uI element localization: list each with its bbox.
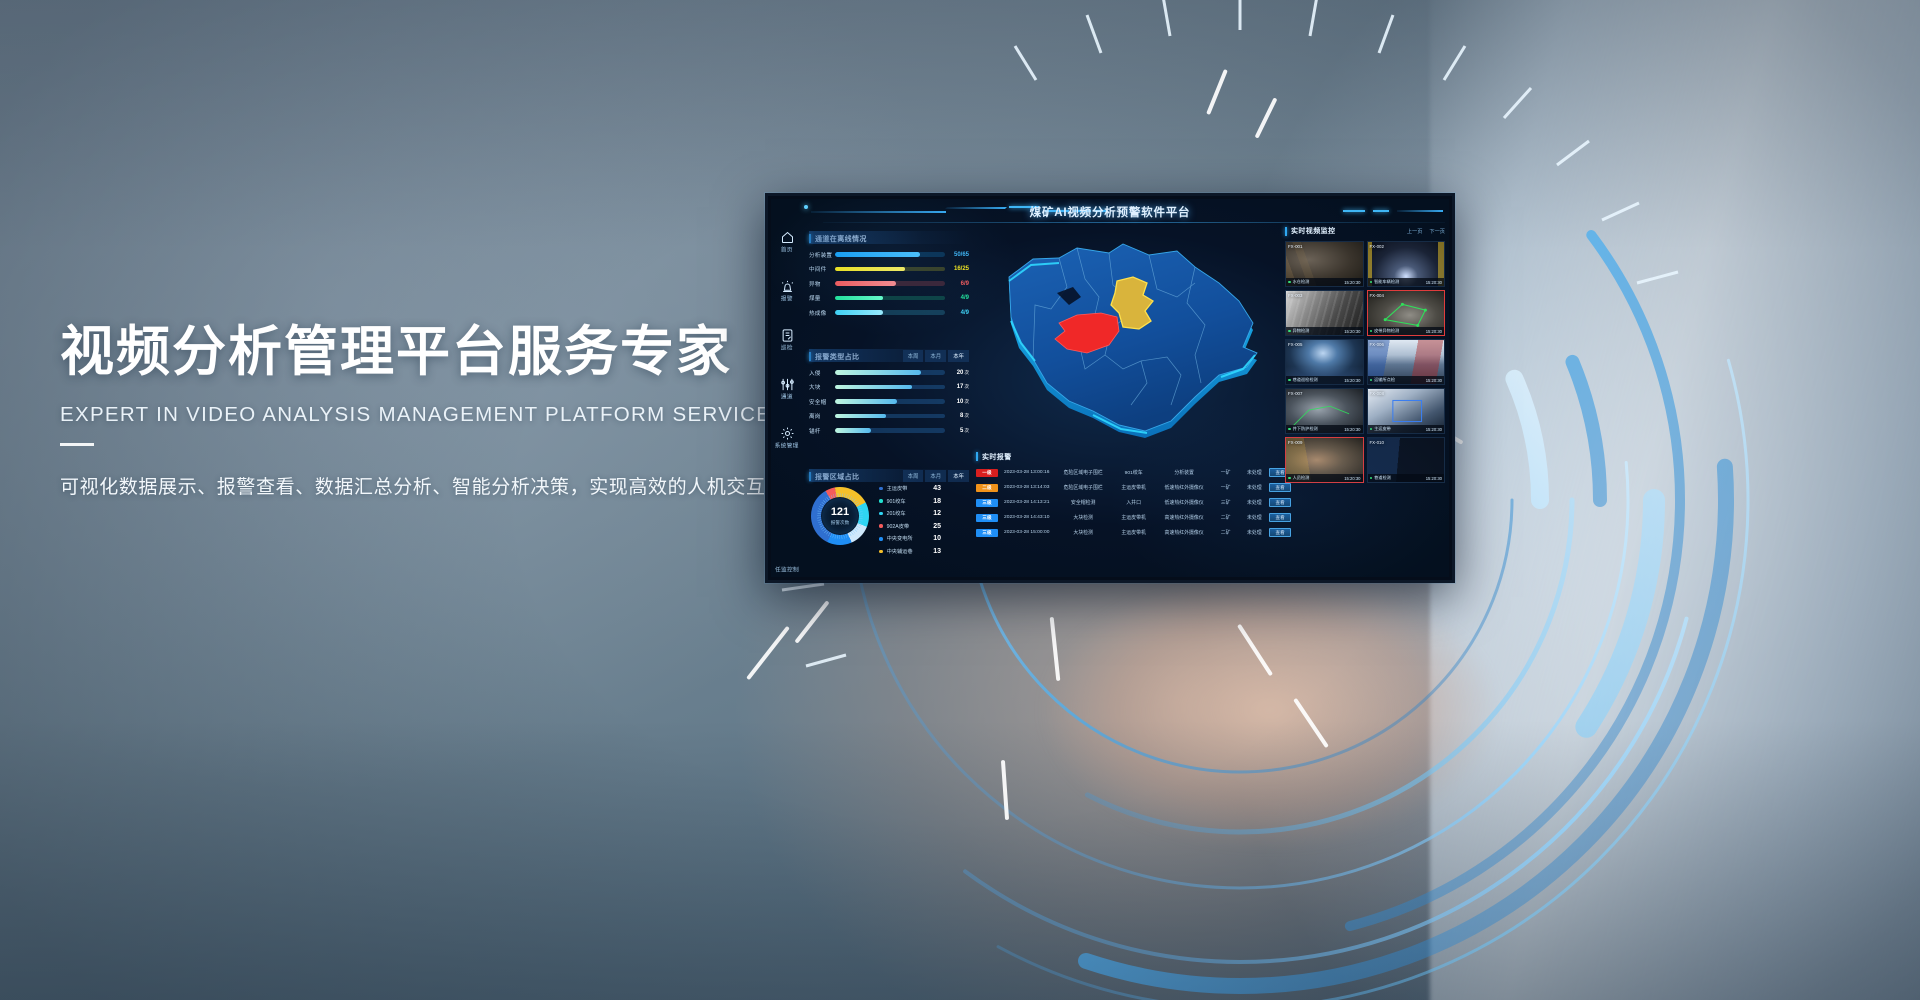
alarm-device: 低速热红外摄像仪 bbox=[1156, 499, 1211, 506]
video-footer: 主运皮带 15:20:30 bbox=[1368, 425, 1445, 433]
tab-month[interactable]: 本月 bbox=[925, 350, 946, 362]
region-map[interactable] bbox=[981, 235, 1281, 455]
sidebar-label: 通道 bbox=[781, 393, 793, 401]
alarm-type-row: 大块 17次 bbox=[809, 383, 969, 391]
alarm-status: 未处理 bbox=[1240, 469, 1270, 476]
type-value: 17次 bbox=[945, 384, 969, 390]
legend-label: 201绞车 bbox=[887, 510, 934, 517]
channel-label: 中间件 bbox=[809, 265, 835, 273]
table-row: 一级 2023-03-28 13:00:16 危险区域电子围栏 901绞车 分析… bbox=[976, 465, 1291, 480]
video-cell[interactable]: FX-003 异物检测 15:20:30 bbox=[1285, 290, 1364, 336]
donut-value: 121 bbox=[831, 507, 849, 518]
alarm-mine: 二矿 bbox=[1212, 514, 1240, 521]
sidebar-label: 首页 bbox=[781, 246, 793, 254]
legend-label: 主运皮带 bbox=[887, 485, 934, 492]
camera-tag: 巷道巡检检测 bbox=[1293, 377, 1318, 383]
channel-row: 热成像 4/9 bbox=[809, 309, 969, 317]
camera-tag: 巷道检测 bbox=[1374, 475, 1391, 481]
period-tabs: 本周 本月 本年 bbox=[903, 350, 969, 362]
camera-time: 15:20:30 bbox=[1426, 427, 1442, 432]
status-dot-icon bbox=[1370, 330, 1373, 333]
alarm-device: 高速热红外摄像仪 bbox=[1156, 514, 1211, 521]
camera-time: 15:20:30 bbox=[1344, 378, 1360, 383]
legend-label: 中央变电所 bbox=[887, 535, 934, 542]
alarm-type-row: 安全帽 10次 bbox=[809, 398, 969, 406]
alarm-time: 2023-03-28 14:43:10 bbox=[998, 515, 1055, 520]
alarm-status: 未处理 bbox=[1240, 529, 1270, 536]
camera-name: FX-002 bbox=[1370, 244, 1384, 249]
channel-row: 煤量 4/9 bbox=[809, 294, 969, 302]
video-cell[interactable]: FX-004 皮带异物检测 15:20:30 bbox=[1367, 290, 1446, 336]
legend-dot bbox=[879, 550, 883, 554]
sidebar-label: 报警 bbox=[781, 295, 793, 303]
channel-row: 中间件 16/25 bbox=[809, 265, 969, 273]
camera-name: FX-006 bbox=[1370, 342, 1384, 347]
tab-week[interactable]: 本周 bbox=[903, 350, 924, 362]
alarm-type-row: 入侵 20次 bbox=[809, 369, 969, 377]
status-dot-icon bbox=[1370, 281, 1373, 284]
page-title: 视频分析管理平台服务专家 bbox=[60, 320, 820, 385]
progress-track bbox=[835, 267, 945, 272]
channel-status-panel: 通道在离线情况 分析装置 50/65 中间件 16/25 bbox=[809, 233, 969, 317]
legend-label: 901绞车 bbox=[887, 498, 934, 505]
app-title: 煤矿AI视频分析预警软件平台 bbox=[1030, 204, 1191, 220]
legend-dot bbox=[879, 512, 883, 516]
camera-name: FX-001 bbox=[1288, 244, 1302, 249]
camera-tag: 水仓检测 bbox=[1293, 279, 1310, 285]
video-footer: 皮带异物检测 15:20:30 bbox=[1368, 327, 1445, 335]
camera-tag: 智能车辆检测 bbox=[1374, 279, 1399, 285]
channel-row: 异物 6/9 bbox=[809, 280, 969, 288]
map-base bbox=[1009, 244, 1257, 431]
hero-description: 可视化数据展示、报警查看、数据汇总分析、智能分析决策，实现高效的人机交互 bbox=[60, 472, 820, 499]
alarm-type: 大块检测 bbox=[1055, 529, 1110, 536]
type-label: 安全帽 bbox=[809, 398, 835, 406]
legend-label: 902A皮带 bbox=[887, 523, 934, 530]
channel-label: 分析装置 bbox=[809, 251, 835, 259]
sidebar-item-alarm[interactable]: 报警 bbox=[771, 272, 803, 308]
channel-icon bbox=[780, 377, 795, 392]
legend-value: 10 bbox=[933, 535, 941, 542]
camera-time: 15:20:30 bbox=[1426, 280, 1442, 285]
panel-title: 实时报警 bbox=[982, 452, 1012, 462]
camera-time: 15:20:30 bbox=[1344, 427, 1360, 432]
sidebar-footer-label: 任监控制 bbox=[771, 566, 807, 574]
video-footer: 井下防护检测 15:20:30 bbox=[1286, 425, 1363, 433]
alarm-mine: 一矿 bbox=[1212, 469, 1240, 476]
camera-tag: 皮带异物检测 bbox=[1374, 328, 1399, 334]
alarm-status: 未处理 bbox=[1240, 514, 1270, 521]
tab-week[interactable]: 本周 bbox=[903, 470, 924, 482]
video-cell[interactable]: FX-002 智能车辆检测 15:20:30 bbox=[1367, 241, 1446, 287]
sidebar-item-channel[interactable]: 通道 bbox=[771, 370, 803, 406]
video-footer: 人员检测 15:20:30 bbox=[1286, 474, 1363, 482]
header-dot-icon bbox=[804, 205, 808, 209]
donut-legend: 主运皮带 43 901绞车 18 201绞车 12 902A皮带 25 bbox=[879, 485, 941, 561]
status-dot-icon bbox=[1288, 477, 1291, 480]
next-page-button[interactable]: 下一页 bbox=[1429, 228, 1445, 235]
panel-header: 实时报警 bbox=[976, 451, 1291, 462]
panel-accent-bar bbox=[976, 452, 978, 461]
video-footer: 异物检测 15:20:30 bbox=[1286, 327, 1363, 335]
camera-tag: 井下防护检测 bbox=[1293, 426, 1318, 432]
status-dot-icon bbox=[1288, 428, 1291, 431]
table-row: 三级 2023-03-28 14:13:21 安全帽检测 入井口 低速热红外摄像… bbox=[976, 495, 1291, 510]
video-pager: 上一页 下一页 bbox=[1407, 228, 1445, 235]
status-badge: 一级 bbox=[976, 469, 998, 477]
realtime-alarm-panel: 实时报警 一级 2023-03-28 13:00:16 危险区域电子围栏 901… bbox=[976, 451, 1291, 540]
type-label: 离岗 bbox=[809, 412, 835, 420]
video-monitor-panel: 实时视频监控 上一页 下一页 FX-001 水仓检测 15:20:30 bbox=[1285, 225, 1445, 573]
alarm-type-row: 锚杆 5次 bbox=[809, 427, 969, 435]
progress-track bbox=[835, 252, 945, 257]
hero-copy: 视频分析管理平台服务专家 EXPERT IN VIDEO ANALYSIS MA… bbox=[60, 320, 820, 499]
camera-name: FX-008 bbox=[1370, 391, 1384, 396]
alarm-mine: 二矿 bbox=[1212, 529, 1240, 536]
status-badge: 二级 bbox=[976, 484, 998, 492]
status-dot-icon bbox=[1288, 379, 1291, 382]
tab-year[interactable]: 本年 bbox=[948, 470, 969, 482]
camera-time: 15:20:30 bbox=[1426, 329, 1442, 334]
alarm-status: 未处理 bbox=[1240, 499, 1270, 506]
type-value: 5次 bbox=[945, 428, 969, 434]
legend-item: 901绞车 18 bbox=[879, 498, 941, 505]
camera-tag: 人员检测 bbox=[1293, 475, 1310, 481]
period-tabs: 本周 本月 本年 bbox=[903, 470, 969, 482]
alarm-time: 2023-03-28 13:14:03 bbox=[998, 485, 1055, 490]
divider bbox=[60, 443, 94, 446]
channel-value: 4/9 bbox=[945, 310, 969, 316]
alarm-type: 大块检测 bbox=[1055, 514, 1110, 521]
progress-track bbox=[835, 399, 945, 404]
progress-track bbox=[835, 428, 945, 433]
legend-item: 中央变电所 10 bbox=[879, 535, 941, 542]
video-cell[interactable]: FX-008 主运皮带 15:20:30 bbox=[1367, 388, 1446, 434]
alarm-location: 主运皮带机 bbox=[1111, 484, 1157, 491]
sidebar-label: 系统管理 bbox=[775, 442, 799, 450]
video-footer: 巷道巡检检测 15:20:30 bbox=[1286, 376, 1363, 384]
camera-time: 15:20:30 bbox=[1426, 378, 1442, 383]
legend-dot bbox=[879, 537, 883, 541]
video-cell[interactable]: FX-010 巷道检测 15:20:30 bbox=[1367, 437, 1446, 483]
sidebar-item-inspection[interactable]: 巡检 bbox=[771, 321, 803, 357]
video-cell[interactable]: FX-001 水仓检测 15:20:30 bbox=[1285, 241, 1364, 287]
sidebar-label: 巡检 bbox=[781, 344, 793, 352]
donut-caption: 报警次数 bbox=[831, 520, 849, 526]
video-footer: 水仓检测 15:20:30 bbox=[1286, 278, 1363, 286]
camera-name: FX-004 bbox=[1370, 293, 1384, 298]
video-cell[interactable]: FX-006 运输所点检 15:20:30 bbox=[1367, 339, 1446, 385]
camera-time: 15:20:30 bbox=[1344, 476, 1360, 481]
alarm-device: 高速热红外摄像仪 bbox=[1156, 529, 1211, 536]
channel-label: 煤量 bbox=[809, 294, 835, 302]
camera-name: FX-010 bbox=[1370, 440, 1384, 445]
camera-name: FX-005 bbox=[1288, 342, 1302, 347]
alarm-icon bbox=[780, 279, 795, 294]
legend-value: 13 bbox=[933, 548, 941, 555]
alarm-location: 主运皮带机 bbox=[1111, 514, 1157, 521]
progress-track bbox=[835, 281, 945, 286]
alarm-mine: 一矿 bbox=[1212, 484, 1240, 491]
type-value: 8次 bbox=[945, 413, 969, 419]
panel-header: 实时视频监控 上一页 下一页 bbox=[1285, 225, 1445, 237]
status-badge: 三级 bbox=[976, 514, 998, 522]
type-label: 锚杆 bbox=[809, 427, 835, 435]
video-cell[interactable]: FX-009 人员检测 15:20:30 bbox=[1285, 437, 1364, 483]
alarm-area-panel: 报警区域占比 本周 本月 本年 121 报警次数 bbox=[809, 471, 969, 577]
home-icon bbox=[780, 230, 795, 245]
alarm-device: 分析装置 bbox=[1156, 469, 1211, 476]
channel-row: 分析装置 50/65 bbox=[809, 251, 969, 259]
alarm-mine: 三矿 bbox=[1212, 499, 1240, 506]
tab-month[interactable]: 本月 bbox=[925, 470, 946, 482]
alarm-type: 危险区域电子围栏 bbox=[1055, 484, 1110, 491]
video-grid: FX-001 水仓检测 15:20:30 FX-002 智能车辆检测 15:20… bbox=[1285, 241, 1445, 483]
progress-track bbox=[835, 370, 945, 375]
channel-label: 异物 bbox=[809, 280, 835, 288]
status-dot-icon bbox=[1370, 428, 1373, 431]
table-row: 二级 2023-03-28 13:14:03 危险区域电子围栏 主运皮带机 低速… bbox=[976, 480, 1291, 495]
camera-name: FX-007 bbox=[1288, 391, 1302, 396]
camera-name: FX-009 bbox=[1288, 440, 1302, 445]
channel-label: 热成像 bbox=[809, 309, 835, 317]
alarm-type: 安全帽检测 bbox=[1055, 499, 1110, 506]
legend-item: 902A皮带 25 bbox=[879, 523, 941, 530]
alarm-time: 2023-03-28 13:00:16 bbox=[998, 470, 1055, 475]
gear-icon bbox=[780, 426, 795, 441]
status-dot-icon bbox=[1288, 330, 1291, 333]
alarm-time: 2023-03-28 15:00:00 bbox=[998, 530, 1055, 535]
status-badge: 三级 bbox=[976, 499, 998, 507]
progress-track bbox=[835, 385, 945, 390]
dashboard-screen: 煤矿AI视频分析预警软件平台 首页 报警 bbox=[771, 199, 1449, 577]
donut-center: 121 报警次数 bbox=[822, 498, 858, 534]
video-cell[interactable]: FX-005 巷道巡检检测 15:20:30 bbox=[1285, 339, 1364, 385]
inspection-icon bbox=[780, 328, 795, 343]
alarm-time: 2023-03-28 14:13:21 bbox=[998, 500, 1055, 505]
progress-track bbox=[835, 296, 945, 301]
table-row: 三级 2023-03-28 15:00:00 大块检测 主运皮带机 高速热红外摄… bbox=[976, 525, 1291, 540]
camera-tag: 运输所点检 bbox=[1374, 377, 1395, 383]
channel-value: 50/65 bbox=[945, 252, 969, 258]
legend-dot bbox=[879, 487, 883, 491]
panel-title: 实时视频监控 bbox=[1291, 226, 1335, 236]
table-row: 三级 2023-03-28 14:43:10 大块检测 主运皮带机 高速热红外摄… bbox=[976, 510, 1291, 525]
sidebar-footer: 任监控制 bbox=[771, 565, 803, 573]
video-footer: 运输所点检 15:20:30 bbox=[1368, 376, 1445, 384]
camera-tag: 主运皮带 bbox=[1374, 426, 1391, 432]
channel-rows: 分析装置 50/65 中间件 16/25 异物 bbox=[809, 251, 969, 317]
legend-value: 43 bbox=[933, 485, 941, 492]
camera-time: 15:20:30 bbox=[1426, 476, 1442, 481]
alarm-area-donut-chart: 121 报警次数 bbox=[811, 487, 869, 545]
alarm-location: 主运皮带机 bbox=[1111, 529, 1157, 536]
sidebar: 首页 报警 巡检 通道 bbox=[771, 223, 803, 577]
alarm-location: 入井口 bbox=[1111, 499, 1157, 506]
video-footer: 智能车辆检测 15:20:30 bbox=[1368, 278, 1445, 286]
legend-item: 主运皮带 43 bbox=[879, 485, 941, 492]
status-badge: 三级 bbox=[976, 529, 998, 537]
legend-dot bbox=[879, 524, 883, 528]
alarm-type-rows: 入侵 20次 大块 17次 安全帽 bbox=[809, 369, 969, 435]
prev-page-button[interactable]: 上一页 bbox=[1407, 228, 1423, 235]
alarm-status: 未处理 bbox=[1240, 484, 1270, 491]
camera-time: 15:20:30 bbox=[1344, 329, 1360, 334]
type-label: 大块 bbox=[809, 383, 835, 391]
hero-subhead: EXPERT IN VIDEO ANALYSIS MANAGEMENT PLAT… bbox=[60, 403, 820, 427]
panel-accent-bar bbox=[1285, 227, 1287, 236]
tab-year[interactable]: 本年 bbox=[948, 350, 969, 362]
status-dot-icon bbox=[1288, 281, 1291, 284]
monitor-frame: 煤矿AI视频分析预警软件平台 首页 报警 bbox=[765, 193, 1455, 583]
status-dot-icon bbox=[1370, 477, 1373, 480]
legend-value: 18 bbox=[933, 498, 941, 505]
legend-item: 中央辅运巷 13 bbox=[879, 548, 941, 555]
alarm-type: 危险区域电子围栏 bbox=[1055, 469, 1110, 476]
type-value: 20次 bbox=[945, 370, 969, 376]
sidebar-item-home[interactable]: 首页 bbox=[771, 223, 803, 259]
channel-value: 6/9 bbox=[945, 281, 969, 287]
camera-tag: 异物检测 bbox=[1293, 328, 1310, 334]
camera-name: FX-003 bbox=[1288, 293, 1302, 298]
status-dot-icon bbox=[1370, 379, 1373, 382]
legend-value: 25 bbox=[933, 523, 941, 530]
legend-label: 中央辅运巷 bbox=[887, 548, 934, 555]
type-label: 入侵 bbox=[809, 369, 835, 377]
channel-value: 16/25 bbox=[945, 266, 969, 272]
alarm-type-row: 离岗 8次 bbox=[809, 412, 969, 420]
legend-value: 12 bbox=[933, 510, 941, 517]
alarm-location: 901绞车 bbox=[1111, 469, 1157, 476]
video-cell[interactable]: FX-007 井下防护检测 15:20:30 bbox=[1285, 388, 1364, 434]
video-footer: 巷道检测 15:20:30 bbox=[1368, 474, 1445, 482]
alarm-device: 低速热红外摄像仪 bbox=[1156, 484, 1211, 491]
sidebar-item-system[interactable]: 系统管理 bbox=[771, 419, 803, 455]
legend-item: 201绞车 12 bbox=[879, 510, 941, 517]
camera-time: 15:20:30 bbox=[1344, 280, 1360, 285]
channel-value: 4/9 bbox=[945, 295, 969, 301]
alarm-type-panel: 报警类型占比 本周 本月 本年 入侵 20次 大块 bbox=[809, 351, 969, 435]
legend-dot bbox=[879, 499, 883, 503]
progress-track bbox=[835, 310, 945, 315]
progress-track bbox=[835, 414, 945, 419]
type-value: 10次 bbox=[945, 399, 969, 405]
